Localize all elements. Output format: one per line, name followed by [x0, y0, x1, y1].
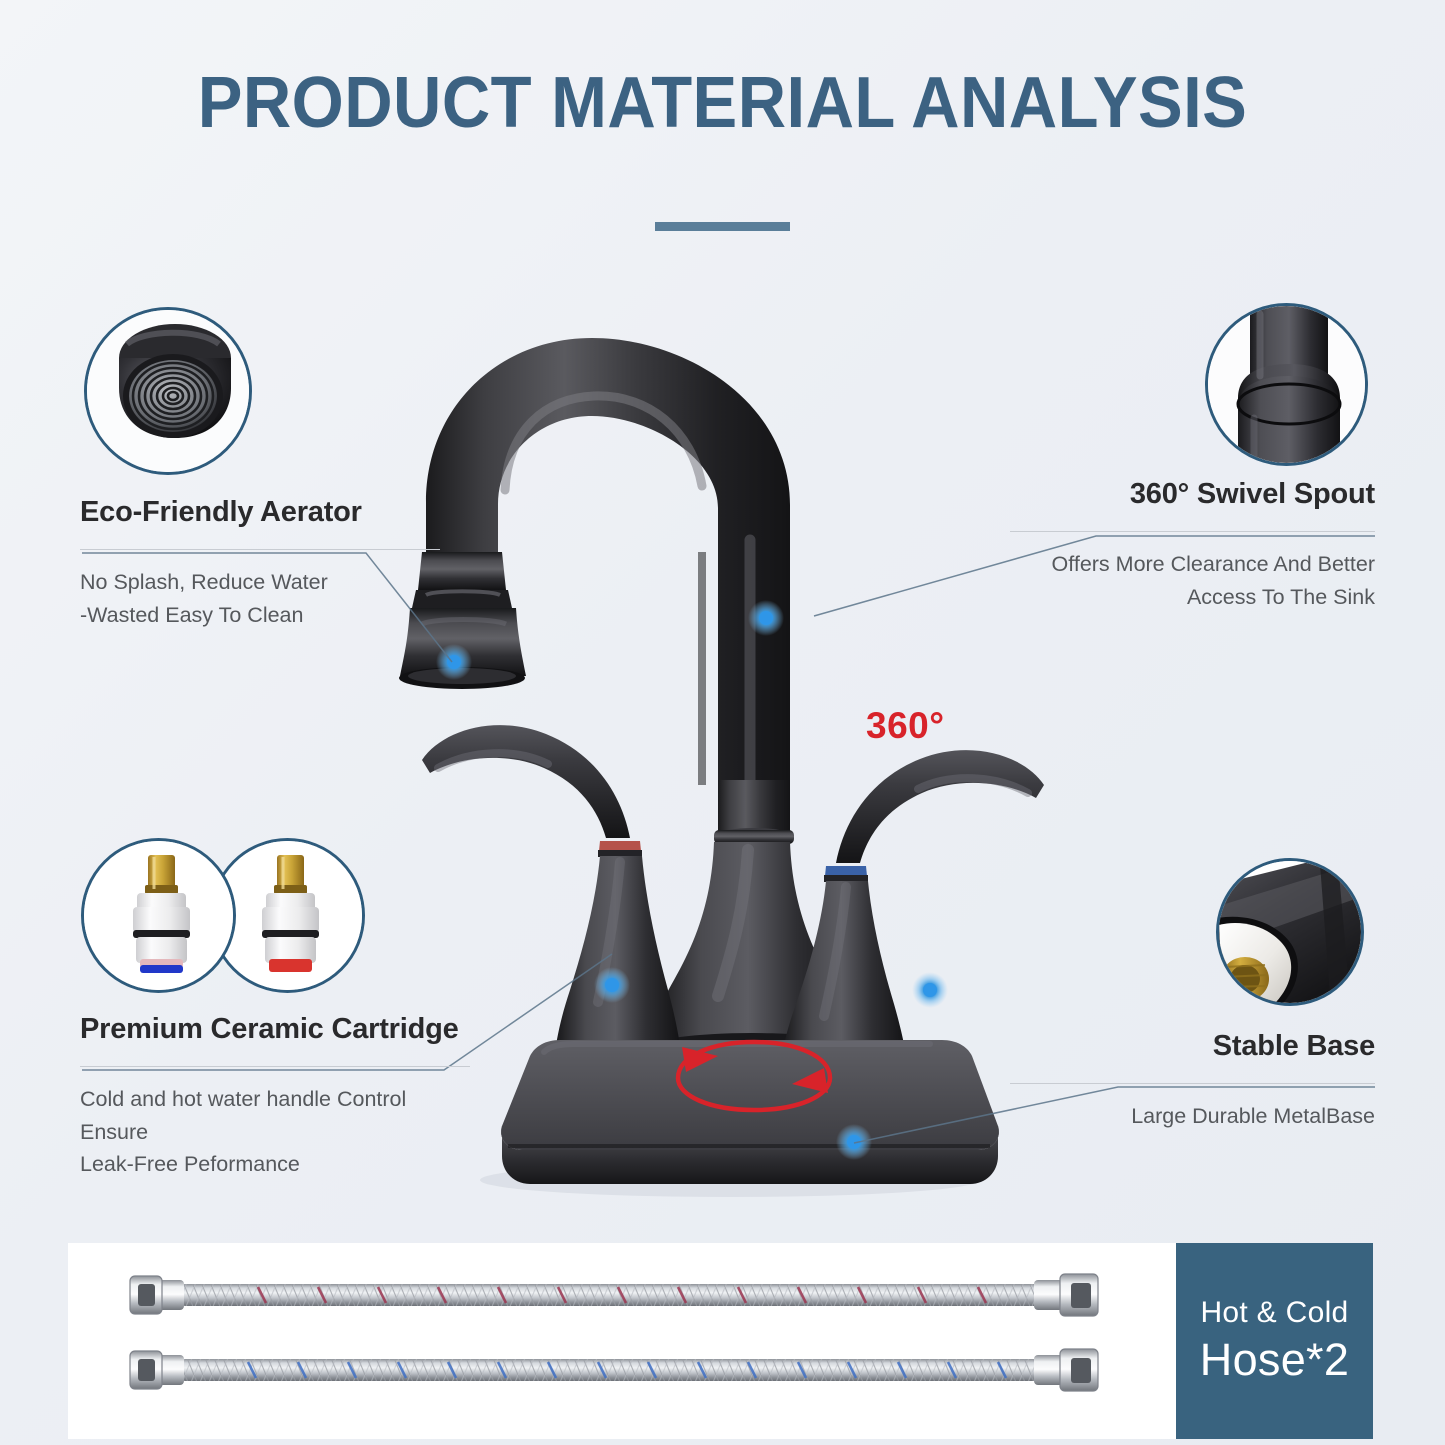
- callout-stable-base: Stable Base Large Durable MetalBase: [1010, 1030, 1375, 1133]
- callout-swivel-heading: 360° Swivel Spout: [1010, 478, 1375, 511]
- title-block: PRODUCT MATERIAL ANALYSIS: [0, 62, 1445, 231]
- callout-aerator-line2: -Wasted Easy To Clean: [80, 599, 440, 632]
- callout-swivel-spout: 360° Swivel Spout Offers More Clearance …: [1010, 478, 1375, 613]
- callout-aerator-line1: No Splash, Reduce Water: [80, 566, 440, 599]
- callout-aerator: Eco-Friendly Aerator No Splash, Reduce W…: [80, 496, 440, 631]
- callout-cartridge-line1: Cold and hot water handle Control Ensure: [80, 1083, 470, 1148]
- callout-cartridge-heading: Premium Ceramic Cartridge: [80, 1013, 470, 1046]
- callout-swivel-line1: Offers More Clearance And Better: [1010, 548, 1375, 581]
- hose-badge: Hot & Cold Hose*2: [1176, 1243, 1373, 1439]
- badge-label-primary: Hot & Cold: [1200, 1296, 1348, 1330]
- badge-label-secondary: Hose*2: [1200, 1334, 1349, 1386]
- callout-aerator-heading: Eco-Friendly Aerator: [80, 496, 440, 529]
- callout-cartridge-line2: Leak-Free Peformance: [80, 1148, 470, 1181]
- callout-swivel-divider: [1010, 531, 1375, 532]
- supply-hoses-illustration: [68, 1243, 1178, 1439]
- rotation-label: 360°: [866, 705, 945, 747]
- hose-hot: [130, 1274, 1098, 1316]
- hose-cold: [130, 1349, 1098, 1391]
- hose-panel: Hot & Cold Hose*2: [68, 1243, 1373, 1439]
- callout-base-divider: [1010, 1083, 1375, 1084]
- swivel-joint-closeup-icon: [1205, 303, 1368, 466]
- callout-base-line1: Large Durable MetalBase: [1010, 1100, 1375, 1133]
- callout-ceramic-cartridge: Premium Ceramic Cartridge Cold and hot w…: [80, 1013, 470, 1181]
- callout-aerator-divider: [80, 549, 440, 550]
- ceramic-cartridge-cold-icon: [81, 838, 236, 993]
- page-title: PRODUCT MATERIAL ANALYSIS: [51, 62, 1395, 144]
- stable-base-closeup-icon: [1216, 858, 1364, 1006]
- aerator-closeup-icon: [84, 307, 252, 475]
- callout-base-heading: Stable Base: [1010, 1030, 1375, 1063]
- callout-cartridge-divider: [80, 1066, 470, 1067]
- callout-swivel-line2: Access To The Sink: [1010, 581, 1375, 614]
- title-divider: [655, 222, 790, 231]
